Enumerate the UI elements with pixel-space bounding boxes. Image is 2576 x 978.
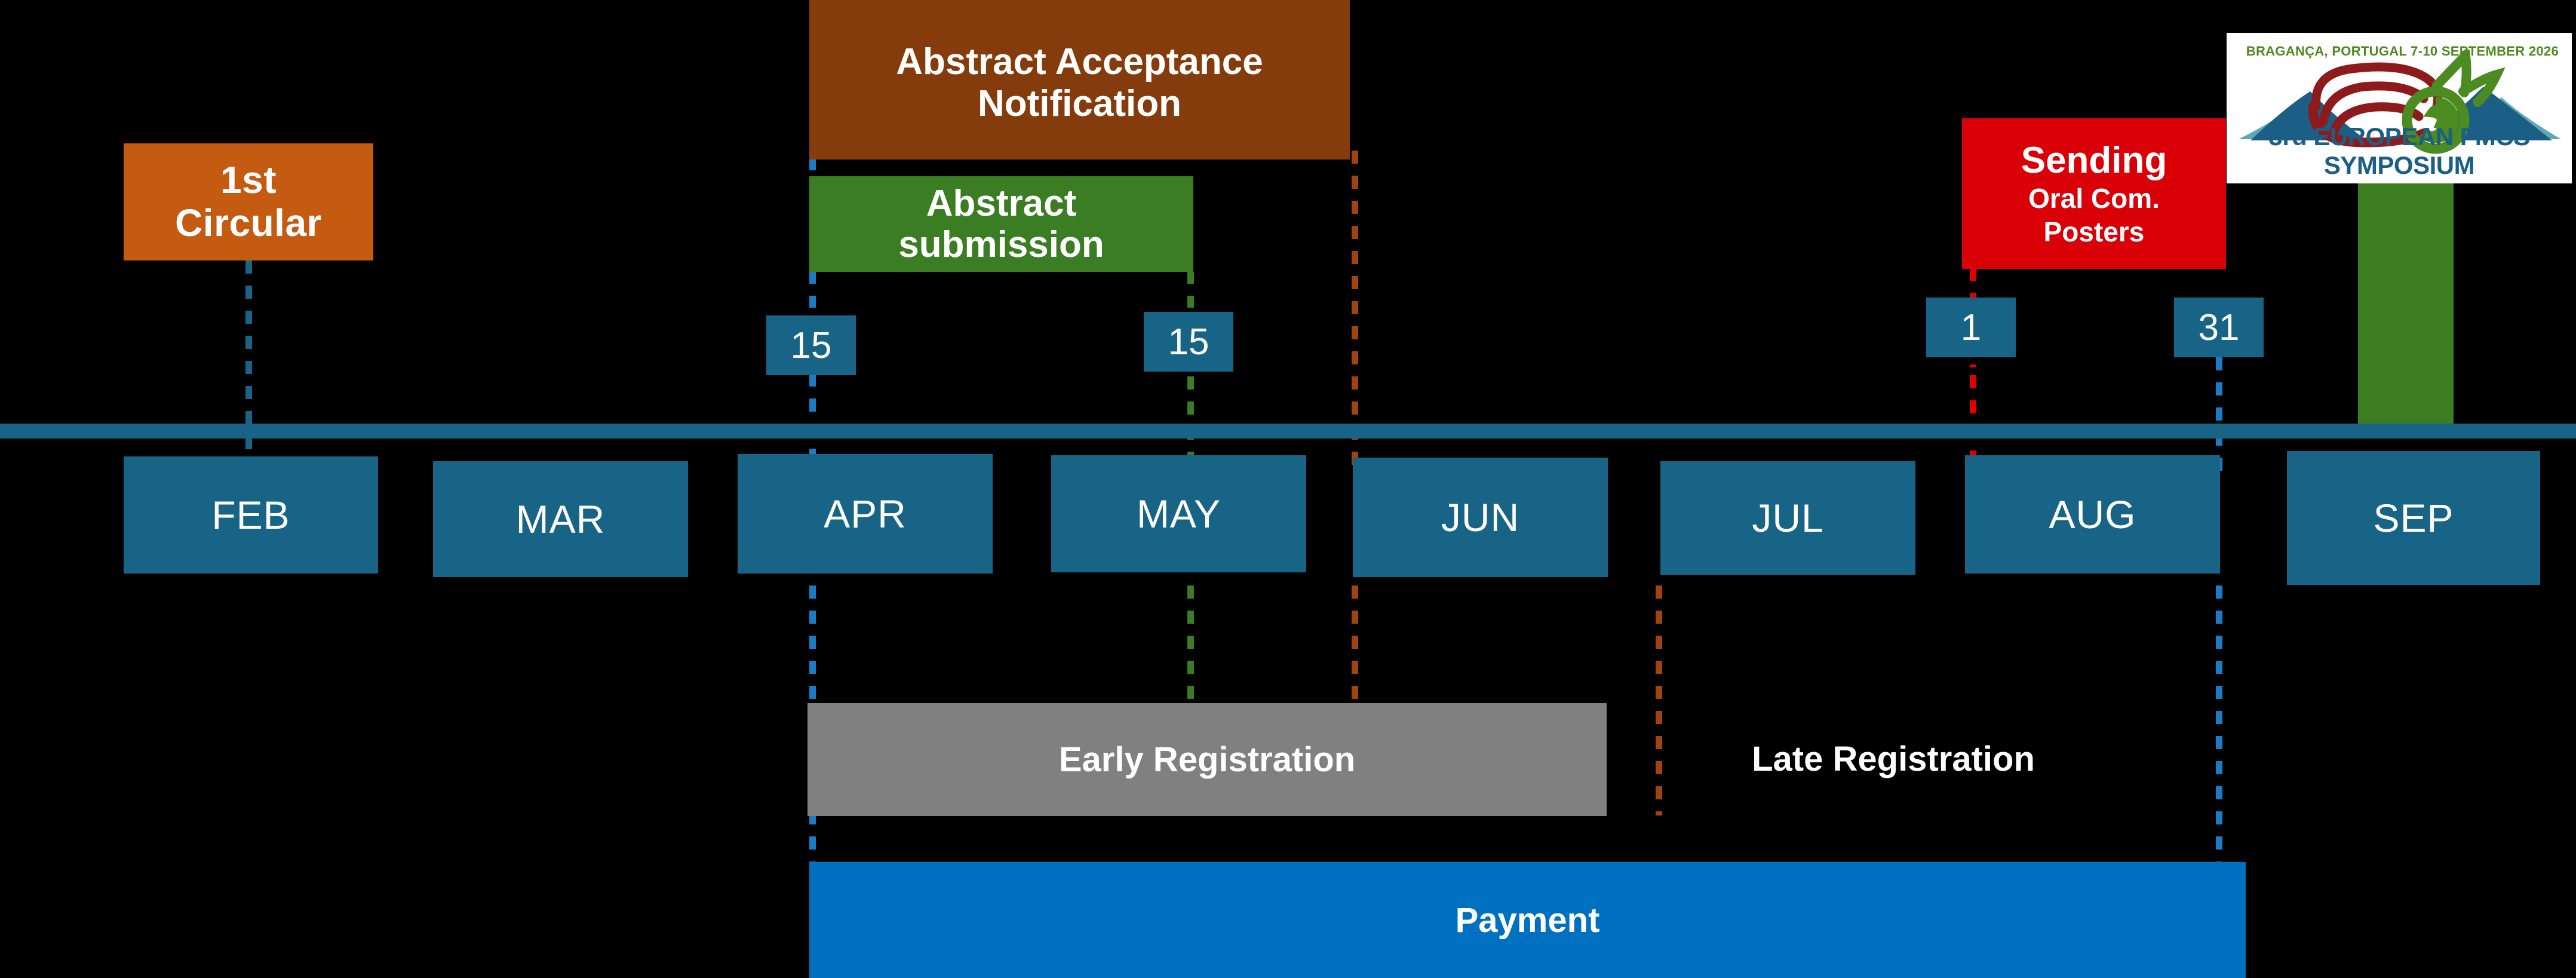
late-registration-label: Late Registration	[1752, 739, 2035, 779]
connector-submission-start-upper	[809, 160, 816, 177]
day-badge-value: 1	[1961, 306, 1981, 349]
month-chip-feb: FEB	[124, 456, 378, 574]
day-badge-may-15: 15	[1144, 312, 1233, 372]
payment-label: Payment	[1456, 900, 1600, 940]
logo-title: 3rd EUROPEAN FMCS SYMPOSIUM	[2227, 122, 2572, 180]
month-chip-sep: SEP	[2287, 451, 2540, 585]
symposium-logo: BRAGANÇA, PORTUGAL 7-10 SEPTEMBER 2026 3…	[2227, 33, 2572, 183]
late-registration-label-wrap: Late Registration	[1666, 726, 2120, 792]
month-chip-mar: MAR	[433, 461, 688, 577]
connector-submission-start-mid	[809, 272, 816, 320]
month-label: MAR	[516, 496, 606, 542]
milestone-card-abstract-submission: Abstract submission	[809, 176, 1193, 272]
milestone-card-first-circular: 1st Circular	[124, 143, 373, 260]
symposium-event-bar	[2358, 179, 2454, 430]
acceptance-line-1: Abstract Acceptance	[896, 41, 1263, 82]
day-badge-value: 15	[791, 324, 832, 367]
early-registration-bar: Early Registration	[808, 703, 1607, 816]
month-label: JUN	[1441, 495, 1519, 540]
acceptance-line-2: Notification	[978, 83, 1181, 124]
month-label: JUL	[1752, 495, 1823, 541]
sending-line-1: Sending	[2021, 140, 2167, 181]
circular-line-2: Circular	[175, 201, 322, 244]
connector-aug31-lower	[2216, 585, 2222, 863]
sending-line-2: Oral Com.	[2028, 183, 2160, 214]
month-label: SEP	[2373, 495, 2454, 541]
early-registration-label: Early Registration	[1059, 740, 1355, 780]
sending-line-3: Posters	[2044, 217, 2145, 248]
milestone-card-sending: Sending Oral Com. Posters	[1962, 118, 2226, 269]
timeline-infographic: Abstract Acceptance Notification Abstrac…	[0, 0, 2576, 978]
connector-submission-end-upper	[1187, 272, 1194, 317]
connector-acceptance-upper	[1352, 151, 1358, 467]
day-badge-value: 31	[2199, 306, 2240, 349]
milestone-card-abstract-acceptance: Abstract Acceptance Notification	[809, 0, 1350, 160]
timeline-rail	[0, 424, 2576, 439]
payment-bar: Payment	[809, 862, 2246, 978]
month-chip-jul: JUL	[1660, 461, 1915, 575]
circular-line-1: 1st	[220, 158, 277, 201]
day-badge-apr-15: 15	[766, 315, 856, 375]
connector-late-registration	[1656, 585, 1662, 815]
month-label: APR	[824, 491, 907, 536]
day-badge-aug-31: 31	[2174, 298, 2264, 357]
connector-acceptance-lower	[1352, 585, 1358, 705]
month-chip-aug: AUG	[1965, 455, 2220, 574]
connector-sending-lower	[1970, 375, 1976, 468]
day-badge-aug-1: 1	[1926, 298, 2016, 357]
month-chip-may: MAY	[1051, 455, 1306, 572]
month-chip-apr: APR	[738, 454, 993, 574]
connector-submission-end-tail	[1187, 585, 1194, 705]
month-label: AUG	[2049, 492, 2136, 537]
submission-line-2: submission	[898, 224, 1104, 265]
connector-aug31-upper	[2216, 357, 2222, 471]
day-badge-value: 15	[1168, 321, 1209, 363]
month-label: FEB	[211, 492, 290, 538]
month-label: MAY	[1137, 491, 1221, 536]
submission-line-1: Abstract	[926, 183, 1077, 224]
month-chip-jun: JUN	[1353, 458, 1608, 577]
